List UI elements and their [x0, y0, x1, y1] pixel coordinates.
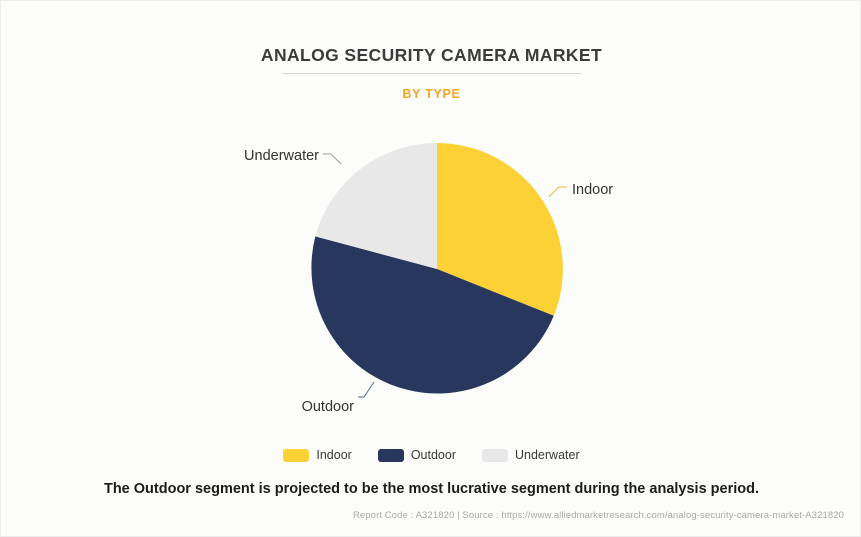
- pie-label-indoor: Indoor: [572, 182, 613, 198]
- legend-item-indoor[interactable]: Indoor: [283, 448, 351, 462]
- title-divider: [282, 73, 581, 74]
- footer-insight-note: The Outdoor segment is projected to be t…: [1, 481, 861, 497]
- legend-label-indoor: Indoor: [316, 448, 351, 462]
- legend-item-outdoor[interactable]: Outdoor: [378, 448, 456, 462]
- legend-item-underwater[interactable]: Underwater: [482, 448, 580, 462]
- footer-source-line: Report Code : A321820 | Source : https:/…: [1, 510, 861, 521]
- pie-label-outdoor: Outdoor: [302, 399, 355, 415]
- pie-slice-indoor[interactable]: [437, 143, 563, 316]
- leader-line-indoor: [549, 187, 567, 197]
- legend-swatch-indoor: [283, 449, 309, 462]
- chart-canvas: ANALOG SECURITY CAMERA MARKET BY TYPE In…: [0, 0, 861, 537]
- legend-label-outdoor: Outdoor: [411, 448, 456, 462]
- pie-slice-underwater[interactable]: [315, 143, 437, 269]
- chart-legend: Indoor Outdoor Underwater: [1, 448, 861, 462]
- leader-line-underwater: [323, 154, 341, 164]
- page-title: ANALOG SECURITY CAMERA MARKET: [1, 45, 861, 66]
- leader-line-outdoor: [358, 382, 374, 397]
- legend-swatch-outdoor: [378, 449, 404, 462]
- pie-label-underwater: Underwater: [244, 148, 319, 164]
- chart-subtitle: BY TYPE: [1, 87, 861, 101]
- legend-label-underwater: Underwater: [515, 448, 580, 462]
- pie-slice-outdoor[interactable]: [311, 236, 553, 393]
- legend-swatch-underwater: [482, 449, 508, 462]
